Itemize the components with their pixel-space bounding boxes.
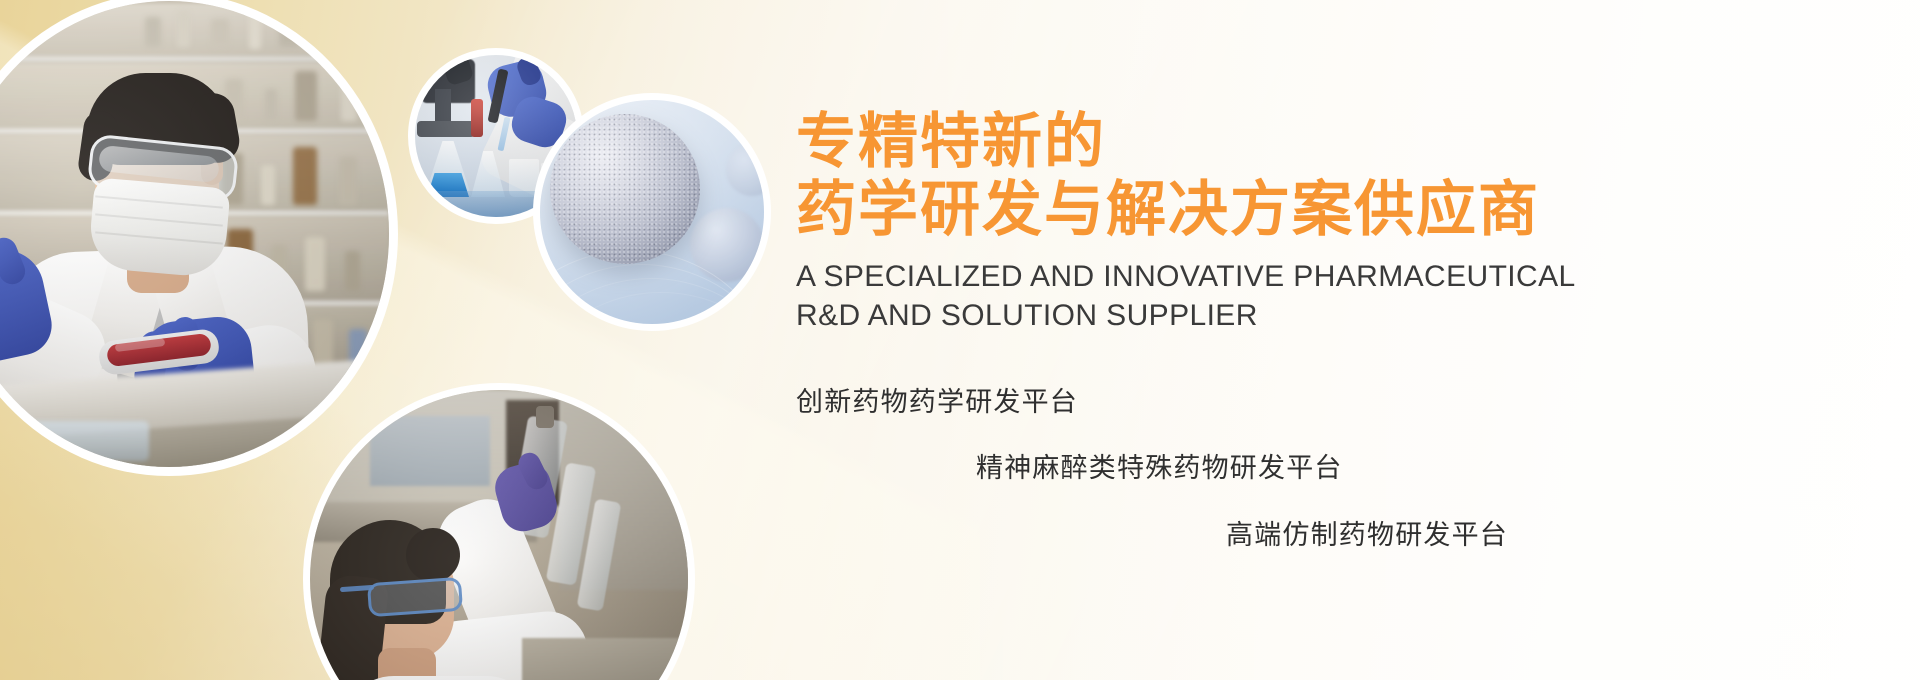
granule-sphere-macro-photo (540, 100, 764, 324)
tagline-item-3: 高端仿制药物研发平台 (1226, 519, 1906, 551)
tagline-item-2: 精神麻醉类特殊药物研发平台 (976, 452, 1906, 484)
headline-line-2: 药学研发与解决方案供应商 (796, 176, 1896, 244)
scientist-female-equipment-photo (310, 390, 688, 680)
subtitle-line-2: R&D AND SOLUTION SUPPLIER (796, 296, 1896, 335)
page-title: 专精特新的 药学研发与解决方案供应商 (796, 108, 1896, 245)
subtitle-line-1: A SPECIALIZED AND INNOVATIVE PHARMACEUTI… (796, 257, 1896, 296)
headline-line-1: 专精特新的 (796, 108, 1896, 176)
hero-banner: 专精特新的 药学研发与解决方案供应商 A SPECIALIZED AND INN… (0, 0, 1920, 680)
tagline-item-1: 创新药物药学研发平台 (796, 386, 1906, 418)
subtitle-english: A SPECIALIZED AND INNOVATIVE PHARMACEUTI… (796, 257, 1896, 335)
tagline-list: 创新药物药学研发平台 精神麻醉类特殊药物研发平台 高端仿制药物研发平台 (796, 386, 1906, 585)
headline-block: 专精特新的 药学研发与解决方案供应商 A SPECIALIZED AND INN… (796, 108, 1896, 335)
